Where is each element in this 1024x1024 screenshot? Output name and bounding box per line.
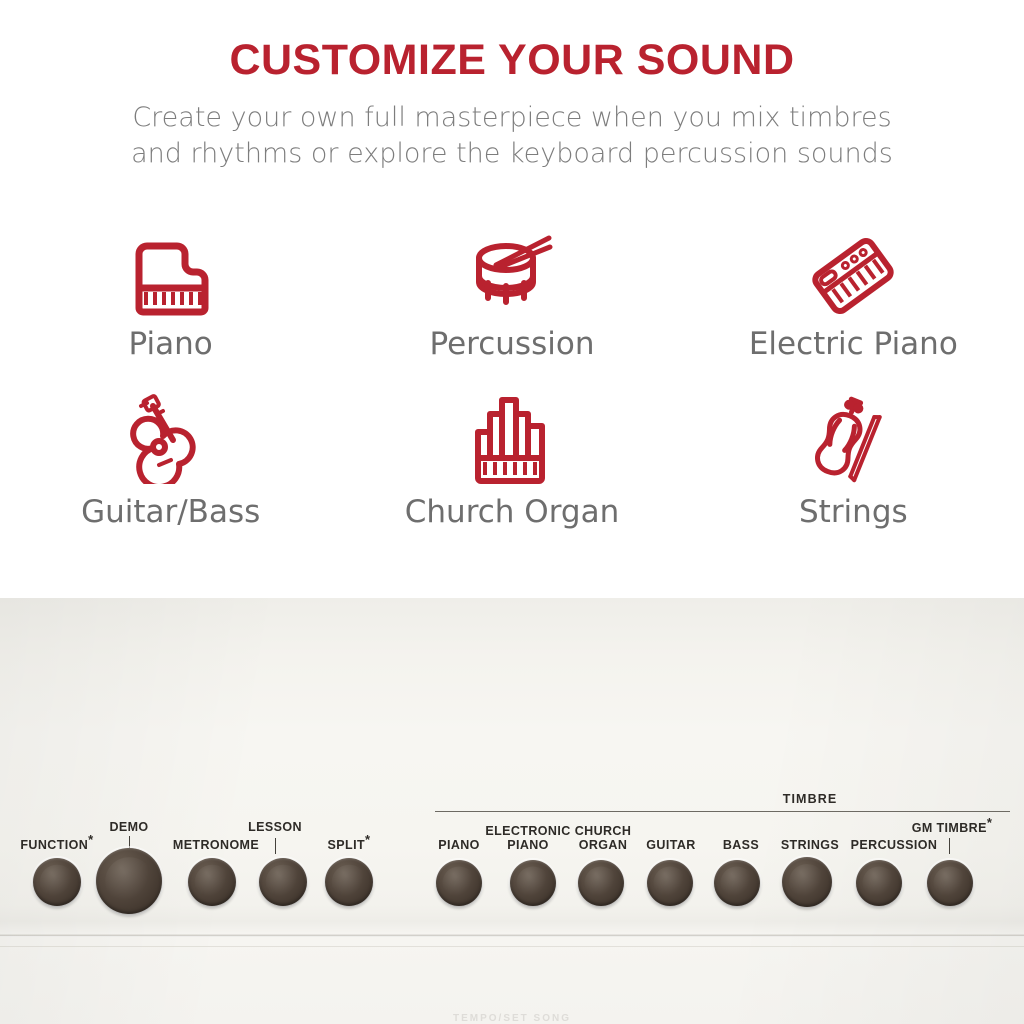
control-label-demo-text: DEMO	[109, 820, 148, 834]
feature-item-guitar-bass: Guitar/Bass	[0, 386, 341, 556]
keyboard-photo: TIMBRE FUNCTION* DEMO METRONOME LESSON S…	[0, 598, 1024, 1024]
violin-icon	[807, 386, 899, 484]
control-label-percussion: PERCUSSION	[851, 838, 938, 852]
control-label-piano: PIANO	[438, 838, 480, 852]
snare-drum-icon	[466, 218, 558, 316]
gm-timbre-asterisk: *	[987, 815, 992, 830]
synthesizer-keyboard-icon	[807, 218, 899, 316]
feature-item-strings: Strings	[683, 386, 1024, 556]
page-root: CUSTOMIZE YOUR SOUND Create your own ful…	[0, 0, 1024, 1024]
button-church-organ[interactable]	[578, 860, 624, 906]
control-label-strings: STRINGS	[781, 838, 839, 852]
button-percussion[interactable]	[856, 860, 902, 906]
bottom-faint-label: TEMPO/SET SONG	[0, 1013, 1024, 1024]
control-label-guitar: GUITAR	[646, 838, 695, 852]
control-label-function-text: FUNCTION	[20, 838, 88, 852]
page-subtitle: Create your own full masterpiece when yo…	[62, 100, 962, 172]
feature-item-electric-piano: Electric Piano	[683, 218, 1024, 388]
control-label-piano-text: PIANO	[438, 838, 480, 852]
grand-piano-icon	[127, 218, 215, 316]
feature-row-1: Piano	[0, 218, 1024, 388]
control-label-strings-text: STRINGS	[781, 838, 839, 852]
lesson-tick-mark	[275, 838, 276, 854]
button-bass[interactable]	[714, 860, 760, 906]
acoustic-guitar-icon	[127, 386, 215, 484]
button-guitar[interactable]	[647, 860, 693, 906]
control-label-function: FUNCTION*	[20, 838, 93, 852]
marketing-panel: CUSTOMIZE YOUR SOUND Create your own ful…	[0, 0, 1024, 598]
demo-tick-mark	[129, 836, 130, 848]
button-lesson[interactable]	[259, 858, 307, 906]
control-label-electronic-piano-line1: ELECTRONIC	[485, 824, 570, 838]
button-split[interactable]	[325, 858, 373, 906]
feature-item-percussion: Percussion	[341, 218, 682, 388]
control-label-electronic-piano-line2: PIANO	[485, 838, 570, 852]
timbre-group-rule	[435, 811, 1010, 812]
feature-item-church-organ: Church Organ	[341, 386, 682, 556]
timbre-group-title: TIMBRE	[783, 792, 838, 806]
function-asterisk: *	[88, 832, 93, 847]
control-label-gm-timbre-text: GM TIMBRE	[912, 821, 987, 835]
control-label-electronic-piano: ELECTRONIC PIANO	[485, 824, 570, 852]
button-gm-timbre[interactable]	[927, 860, 973, 906]
feature-label-strings: Strings	[799, 494, 908, 530]
control-label-percussion-text: PERCUSSION	[851, 838, 938, 852]
control-label-guitar-text: GUITAR	[646, 838, 695, 852]
gm-timbre-tick-mark	[949, 838, 950, 854]
control-label-bass: BASS	[723, 838, 759, 852]
button-function[interactable]	[33, 858, 81, 906]
control-label-church-organ-line2: ORGAN	[575, 838, 632, 852]
control-label-split: SPLIT*	[328, 838, 371, 852]
control-label-split-text: SPLIT	[328, 838, 365, 852]
feature-label-church-organ: Church Organ	[405, 494, 619, 530]
control-label-gm-timbre: GM TIMBRE*	[912, 821, 993, 835]
control-label-metronome: METRONOME	[173, 838, 259, 852]
button-demo[interactable]	[96, 848, 162, 914]
control-label-church-organ: CHURCH ORGAN	[575, 824, 632, 852]
panel-seam	[0, 934, 1024, 937]
control-label-demo: DEMO	[109, 820, 148, 834]
feature-label-guitar-bass: Guitar/Bass	[81, 494, 260, 530]
control-label-bass-text: BASS	[723, 838, 759, 852]
button-electronic-piano[interactable]	[510, 860, 556, 906]
feature-label-electric-piano: Electric Piano	[749, 326, 958, 362]
feature-icon-grid: Piano	[0, 218, 1024, 578]
feature-item-piano: Piano	[0, 218, 341, 388]
control-label-lesson-text: LESSON	[248, 820, 302, 834]
control-label-church-organ-line1: CHURCH	[575, 824, 632, 838]
feature-label-piano: Piano	[129, 326, 213, 362]
panel-seam-secondary	[0, 946, 1024, 947]
split-asterisk: *	[365, 832, 370, 847]
feature-label-percussion: Percussion	[430, 326, 595, 362]
page-title: CUSTOMIZE YOUR SOUND	[0, 36, 1024, 85]
subtitle-line-1: Create your own full masterpiece when yo…	[62, 100, 962, 136]
feature-row-2: Guitar/Bass	[0, 386, 1024, 556]
button-strings[interactable]	[782, 857, 832, 907]
control-label-metronome-text: METRONOME	[173, 838, 259, 852]
pipe-organ-icon	[472, 386, 552, 484]
button-piano[interactable]	[436, 860, 482, 906]
button-metronome[interactable]	[188, 858, 236, 906]
subtitle-line-2: and rhythms or explore the keyboard perc…	[62, 136, 962, 172]
control-label-lesson: LESSON	[248, 820, 302, 834]
